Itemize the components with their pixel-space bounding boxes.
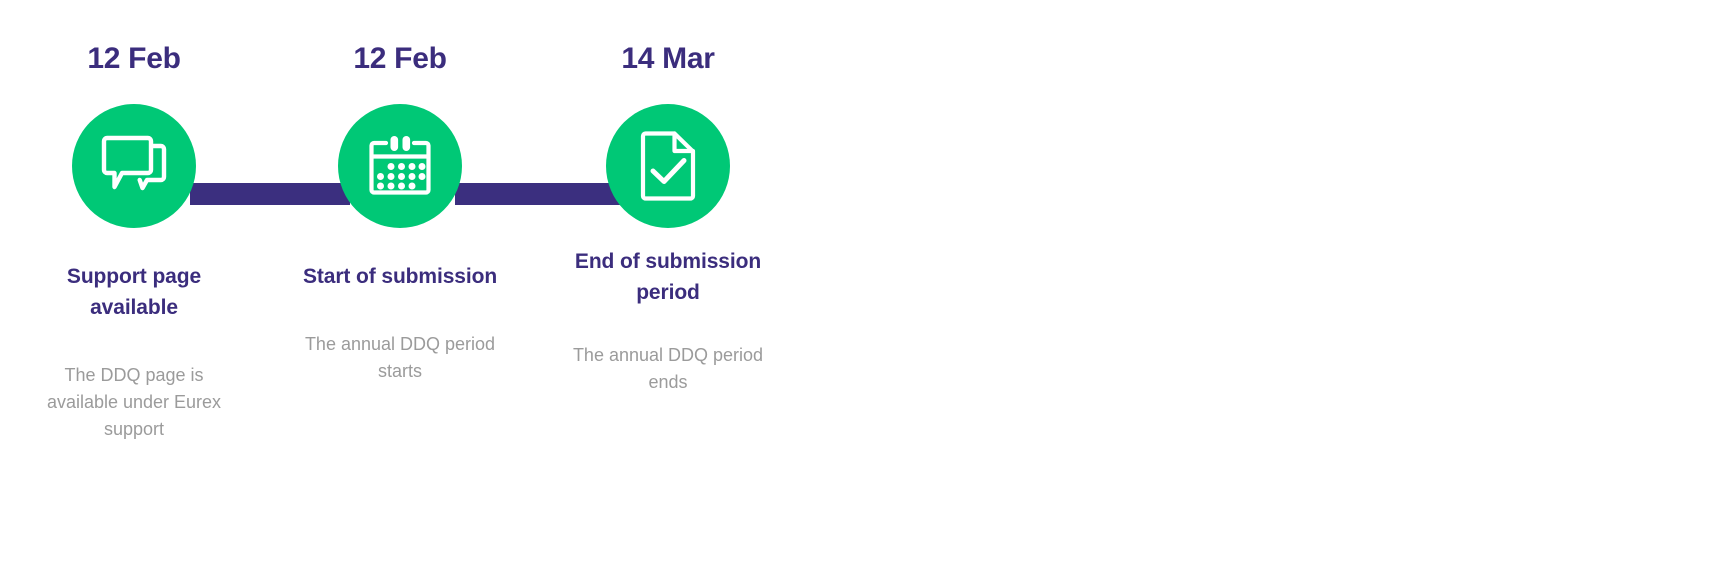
milestone-date: 14 Mar <box>540 0 796 78</box>
calendar-icon <box>369 134 431 198</box>
milestone-description: The annual DDQ period starts <box>272 331 528 386</box>
milestone-icon-wrap <box>540 96 796 262</box>
milestone-description: The annual DDQ period ends <box>540 342 796 397</box>
milestone-icon-wrap <box>272 96 528 262</box>
milestone-date: 12 Feb <box>6 0 262 78</box>
milestone-icon-circle <box>338 104 462 228</box>
milestone-date: 12 Feb <box>272 0 528 78</box>
timeline-infographic: 12 Feb Support page available The DDQ pa… <box>0 0 1720 578</box>
milestone-title: Support page available <box>6 262 262 324</box>
document-check-icon <box>640 131 696 201</box>
timeline-milestone-1: 12 Feb Support page available The DDQ pa… <box>6 0 262 444</box>
timeline-milestone-3: 14 Mar End of submission period The annu… <box>540 0 796 396</box>
milestone-icon-wrap <box>6 96 262 262</box>
milestone-icon-circle <box>606 104 730 228</box>
timeline-milestone-2: 12 Feb <box>272 0 528 386</box>
milestone-icon-circle <box>72 104 196 228</box>
milestone-description: The DDQ page is available under Eurex su… <box>6 362 262 444</box>
chat-bubbles-icon <box>101 135 167 197</box>
milestone-title: Start of submission <box>272 262 528 293</box>
